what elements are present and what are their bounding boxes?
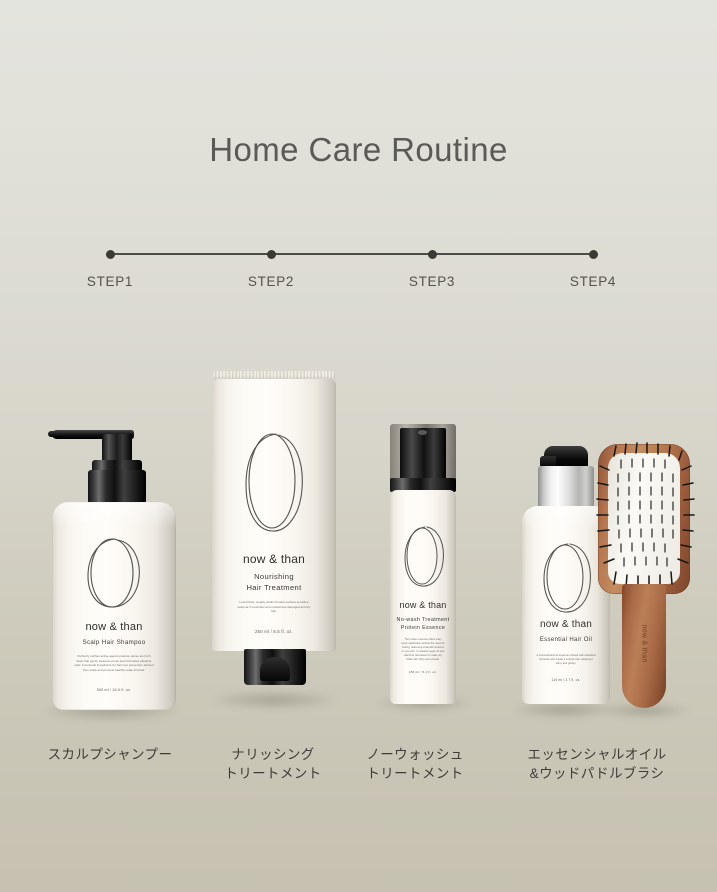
tube-cap-thumb-notch bbox=[260, 657, 290, 681]
product-name-line-2: Protein Essence bbox=[390, 624, 456, 632]
product-caption-1: スカルプシャンプー bbox=[48, 745, 173, 764]
product-name-line-2: Hair Treatment bbox=[212, 582, 336, 593]
bottle-body: now & than Scalp Hair Shampoo Perfectly … bbox=[52, 502, 176, 710]
caption-line-2: トリートメント bbox=[366, 764, 463, 783]
caption-line-1: ノーウォッシュ bbox=[366, 745, 463, 764]
caption-line-2: &ウッドパドルブラシ bbox=[528, 764, 667, 783]
brand-logo-oval-icon bbox=[539, 534, 595, 616]
bottle-body: now & than No-wash Treatment Protein Ess… bbox=[390, 490, 456, 704]
product-volume: 250 ml / 8.5 fl. oz. bbox=[212, 629, 336, 634]
caption-line-1: エッセンシャルオイル bbox=[528, 745, 667, 764]
product-name: Scalp Hair Shampoo bbox=[52, 638, 176, 647]
product-name: Nourishing Hair Treatment bbox=[212, 571, 336, 594]
accessory-wood-paddle-brush[interactable]: now & than bbox=[592, 444, 698, 710]
caption-line-1: スカルプシャンプー bbox=[48, 745, 173, 764]
brand-logo-oval-icon bbox=[81, 528, 147, 614]
oil-collar-silver bbox=[538, 466, 594, 510]
brush-bristles-icon bbox=[594, 440, 696, 600]
caption-line-1: ナリッシング bbox=[224, 745, 321, 764]
product-description: Perfectly purifies active agents produce… bbox=[52, 654, 176, 673]
product-volume: 150 ml / 5.1 fl. oz. bbox=[390, 670, 456, 674]
product-name: No-wash Treatment Protein Essence bbox=[390, 616, 456, 632]
product-brand: now & than bbox=[212, 552, 336, 566]
product-name-line-1: No-wash Treatment bbox=[390, 616, 456, 624]
product-description: Low-irritant, weakly acidic formula soot… bbox=[212, 600, 336, 614]
spray-actuator-button[interactable] bbox=[418, 430, 427, 435]
brand-logo-oval-icon bbox=[240, 419, 310, 539]
product-scalp-hair-shampoo[interactable]: now & than Scalp Hair Shampoo Perfectly … bbox=[44, 424, 180, 714]
product-caption-2: ナリッシングトリートメント bbox=[224, 745, 321, 783]
product-brand: now & than bbox=[390, 600, 456, 610]
product-description: The protein essence offers easy spray ap… bbox=[390, 638, 456, 662]
pump-collar bbox=[88, 470, 146, 504]
tube-body: now & than Nourishing Hair Treatment Low… bbox=[212, 379, 336, 651]
brush-handle-brand-engraving: now & than bbox=[641, 622, 648, 666]
bottle-shoulder-highlight bbox=[52, 502, 176, 528]
product-volume: 500 ml / 16.9 fl. oz. bbox=[52, 688, 176, 692]
pump-nozzle-tip bbox=[48, 431, 62, 437]
product-caption-3: ノーウォッシュトリートメント bbox=[366, 745, 463, 783]
caption-line-2: トリートメント bbox=[224, 764, 321, 783]
product-nourishing-hair-treatment[interactable]: now & than Nourishing Hair Treatment Low… bbox=[210, 371, 338, 703]
spray-pump-head bbox=[400, 428, 446, 480]
brand-logo-oval-icon bbox=[401, 518, 447, 590]
product-brand: now & than bbox=[52, 621, 176, 633]
product-caption-4: エッセンシャルオイル&ウッドパドルブラシ bbox=[528, 745, 667, 783]
product-no-wash-treatment-protein-essence[interactable]: now & than No-wash Treatment Protein Ess… bbox=[378, 424, 470, 708]
product-name-line-1: Nourishing bbox=[212, 571, 336, 582]
